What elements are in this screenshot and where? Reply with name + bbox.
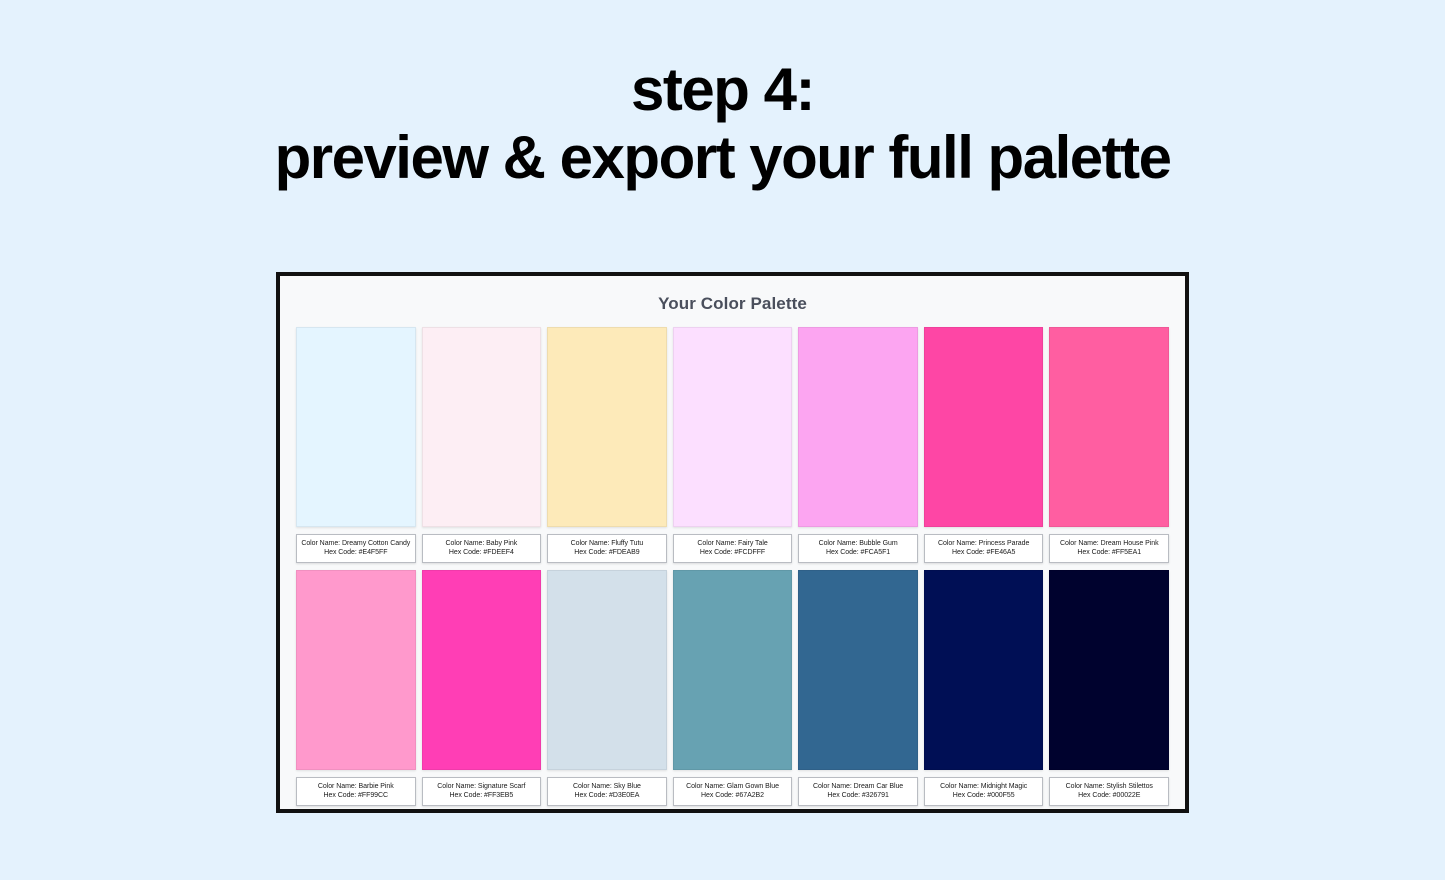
swatch-label-box: Color Name: Dream House PinkHex Code: #F…	[1049, 534, 1169, 563]
swatch-color-name: Color Name: Dream House Pink	[1060, 540, 1159, 549]
swatch-hex-code: Hex Code: #FF99CC	[324, 792, 389, 801]
swatch-color-name: Color Name: Bubble Gum	[819, 540, 898, 549]
swatch-hex-code: Hex Code: #00022E	[1078, 792, 1140, 801]
palette-card-title: Your Color Palette	[280, 276, 1185, 314]
swatch-label-box: Color Name: Glam Gown BlueHex Code: #67A…	[673, 777, 793, 806]
swatch-label-box: Color Name: Baby PinkHex Code: #FDEEF4	[422, 534, 542, 563]
palette-row: Color Name: Dreamy Cotton CandyHex Code:…	[296, 327, 1169, 563]
swatch-color-name: Color Name: Stylish Stilettos	[1066, 783, 1153, 792]
swatch-hex-code: Hex Code: #D3E0EA	[574, 792, 639, 801]
swatch-color-block[interactable]	[547, 570, 667, 770]
swatch-color-block[interactable]	[296, 327, 416, 527]
color-swatch[interactable]: Color Name: Dream Car BlueHex Code: #326…	[798, 570, 918, 806]
swatch-color-name: Color Name: Midnight Magic	[940, 783, 1027, 792]
swatch-hex-code: Hex Code: #FCA5F1	[826, 549, 890, 558]
swatch-color-name: Color Name: Barbie Pink	[318, 783, 394, 792]
swatch-color-block[interactable]	[547, 327, 667, 527]
color-swatch[interactable]: Color Name: Baby PinkHex Code: #FDEEF4	[422, 327, 542, 563]
swatch-color-name: Color Name: Signature Scarf	[437, 783, 525, 792]
swatch-color-block[interactable]	[1049, 570, 1169, 770]
swatch-label-box: Color Name: Fluffy TutuHex Code: #FDEAB9	[547, 534, 667, 563]
swatch-color-name: Color Name: Sky Blue	[573, 783, 641, 792]
swatch-label-box: Color Name: Midnight MagicHex Code: #000…	[924, 777, 1044, 806]
color-swatch[interactable]: Color Name: Dreamy Cotton CandyHex Code:…	[296, 327, 416, 563]
swatch-label-box: Color Name: Stylish StilettosHex Code: #…	[1049, 777, 1169, 806]
swatch-color-name: Color Name: Baby Pink	[446, 540, 518, 549]
swatch-color-block[interactable]	[924, 570, 1044, 770]
swatch-label-box: Color Name: Signature ScarfHex Code: #FF…	[422, 777, 542, 806]
color-swatch[interactable]: Color Name: Stylish StilettosHex Code: #…	[1049, 570, 1169, 806]
swatch-color-block[interactable]	[924, 327, 1044, 527]
color-swatch[interactable]: Color Name: Signature ScarfHex Code: #FF…	[422, 570, 542, 806]
swatch-hex-code: Hex Code: #E4F5FF	[324, 549, 387, 558]
swatch-hex-code: Hex Code: #FE46A5	[952, 549, 1015, 558]
color-swatch[interactable]: Color Name: Fairy TaleHex Code: #FCDFFF	[673, 327, 793, 563]
palette-row: Color Name: Barbie PinkHex Code: #FF99CC…	[296, 570, 1169, 806]
swatch-label-box: Color Name: Fairy TaleHex Code: #FCDFFF	[673, 534, 793, 563]
swatch-color-name: Color Name: Dreamy Cotton Candy	[301, 540, 410, 549]
color-swatch[interactable]: Color Name: Dream House PinkHex Code: #F…	[1049, 327, 1169, 563]
swatch-hex-code: Hex Code: #FDEEF4	[449, 549, 514, 558]
swatch-color-block[interactable]	[422, 327, 542, 527]
swatch-label-box: Color Name: Sky BlueHex Code: #D3E0EA	[547, 777, 667, 806]
swatch-label-box: Color Name: Bubble GumHex Code: #FCA5F1	[798, 534, 918, 563]
swatch-color-name: Color Name: Fluffy Tutu	[571, 540, 644, 549]
swatch-hex-code: Hex Code: #326791	[827, 792, 888, 801]
palette-grid: Color Name: Dreamy Cotton CandyHex Code:…	[296, 327, 1169, 813]
swatch-color-block[interactable]	[798, 570, 918, 770]
palette-card: Your Color Palette Color Name: Dreamy Co…	[276, 272, 1189, 813]
color-swatch[interactable]: Color Name: Fluffy TutuHex Code: #FDEAB9	[547, 327, 667, 563]
swatch-color-block[interactable]	[673, 327, 793, 527]
swatch-hex-code: Hex Code: #FDEAB9	[574, 549, 639, 558]
swatch-hex-code: Hex Code: #FF5EA1	[1077, 549, 1141, 558]
page-heading: step 4: preview & export your full palet…	[0, 56, 1445, 192]
swatch-color-block[interactable]	[296, 570, 416, 770]
swatch-label-box: Color Name: Barbie PinkHex Code: #FF99CC	[296, 777, 416, 806]
swatch-color-block[interactable]	[673, 570, 793, 770]
swatch-hex-code: Hex Code: #000F55	[953, 792, 1015, 801]
swatch-color-name: Color Name: Princess Parade	[938, 540, 1029, 549]
swatch-label-box: Color Name: Dreamy Cotton CandyHex Code:…	[296, 534, 416, 563]
swatch-label-box: Color Name: Dream Car BlueHex Code: #326…	[798, 777, 918, 806]
swatch-hex-code: Hex Code: #FF3EB5	[449, 792, 513, 801]
color-swatch[interactable]: Color Name: Bubble GumHex Code: #FCA5F1	[798, 327, 918, 563]
swatch-color-block[interactable]	[1049, 327, 1169, 527]
swatch-hex-code: Hex Code: #67A2B2	[701, 792, 764, 801]
swatch-color-name: Color Name: Fairy Tale	[697, 540, 767, 549]
color-swatch[interactable]: Color Name: Sky BlueHex Code: #D3E0EA	[547, 570, 667, 806]
color-swatch[interactable]: Color Name: Barbie PinkHex Code: #FF99CC	[296, 570, 416, 806]
color-swatch[interactable]: Color Name: Midnight MagicHex Code: #000…	[924, 570, 1044, 806]
swatch-label-box: Color Name: Princess ParadeHex Code: #FE…	[924, 534, 1044, 563]
swatch-color-block[interactable]	[798, 327, 918, 527]
heading-line-step: step 4:	[0, 56, 1445, 124]
swatch-hex-code: Hex Code: #FCDFFF	[700, 549, 765, 558]
swatch-color-name: Color Name: Glam Gown Blue	[686, 783, 779, 792]
color-swatch[interactable]: Color Name: Princess ParadeHex Code: #FE…	[924, 327, 1044, 563]
swatch-color-block[interactable]	[422, 570, 542, 770]
color-swatch[interactable]: Color Name: Glam Gown BlueHex Code: #67A…	[673, 570, 793, 806]
swatch-color-name: Color Name: Dream Car Blue	[813, 783, 903, 792]
heading-line-description: preview & export your full palette	[0, 124, 1445, 192]
